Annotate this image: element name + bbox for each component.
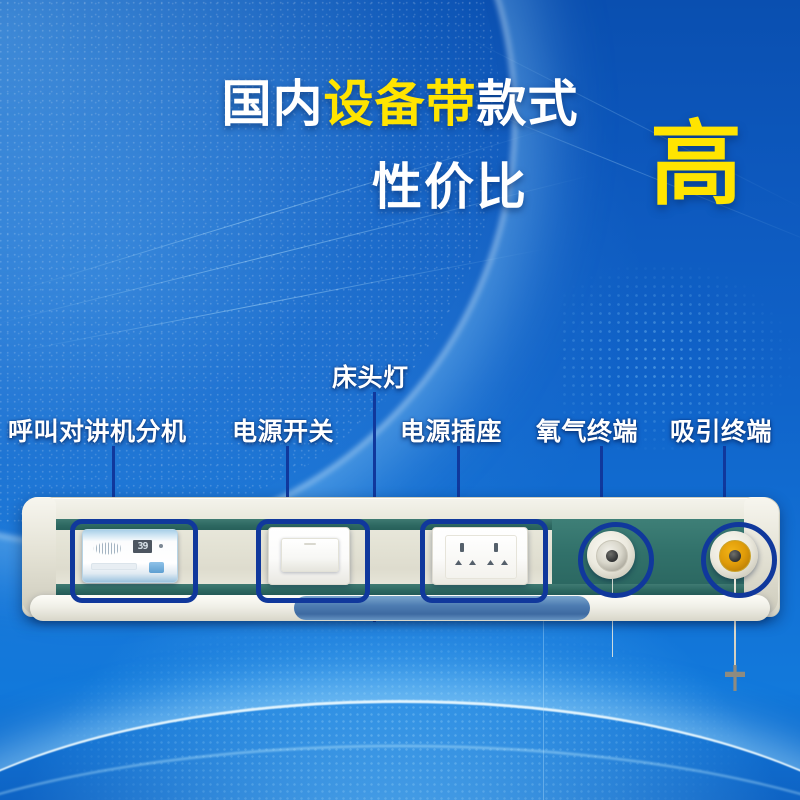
callout-label-oxygen-terminal: 氧气终端: [536, 412, 638, 448]
callout-label-suction-terminal: 吸引终端: [670, 412, 772, 448]
highlight-box-oxygen-terminal: [578, 522, 654, 598]
highlight-box-power-socket: [420, 519, 548, 603]
headline-part-3: 款式: [477, 76, 579, 132]
callout-label-power-switch: 电源开关: [232, 412, 334, 448]
highlight-box-call-intercom-extension: [70, 519, 198, 603]
callout-label-bedside-lamp: 床头灯: [332, 358, 409, 394]
headline-subtitle: 性价比: [372, 147, 528, 219]
grid-line: [543, 610, 544, 800]
promo-banner: 国内设备带款式 性价比 高 呼叫对讲机分机 电源开关 床头灯 电源插座 氧气终端…: [0, 0, 800, 800]
callout-label-power-socket: 电源插座: [400, 412, 502, 448]
highlight-box-power-switch: [256, 519, 370, 603]
headline-line-2: 性价比 高: [0, 145, 800, 223]
dot-map-pattern: [560, 255, 800, 485]
highlight-box-suction-terminal: [701, 522, 777, 598]
headline-part-1: 国内: [222, 76, 324, 132]
callout-label-call-intercom-extension: 呼叫对讲机分机: [8, 412, 187, 448]
headline-part-2: 设备带: [324, 76, 477, 132]
headline-block: 国内设备带款式 性价比 高: [0, 78, 800, 223]
medical-equipment-panel: 39: [22, 497, 778, 629]
headline-emphasis: 高: [650, 119, 742, 211]
